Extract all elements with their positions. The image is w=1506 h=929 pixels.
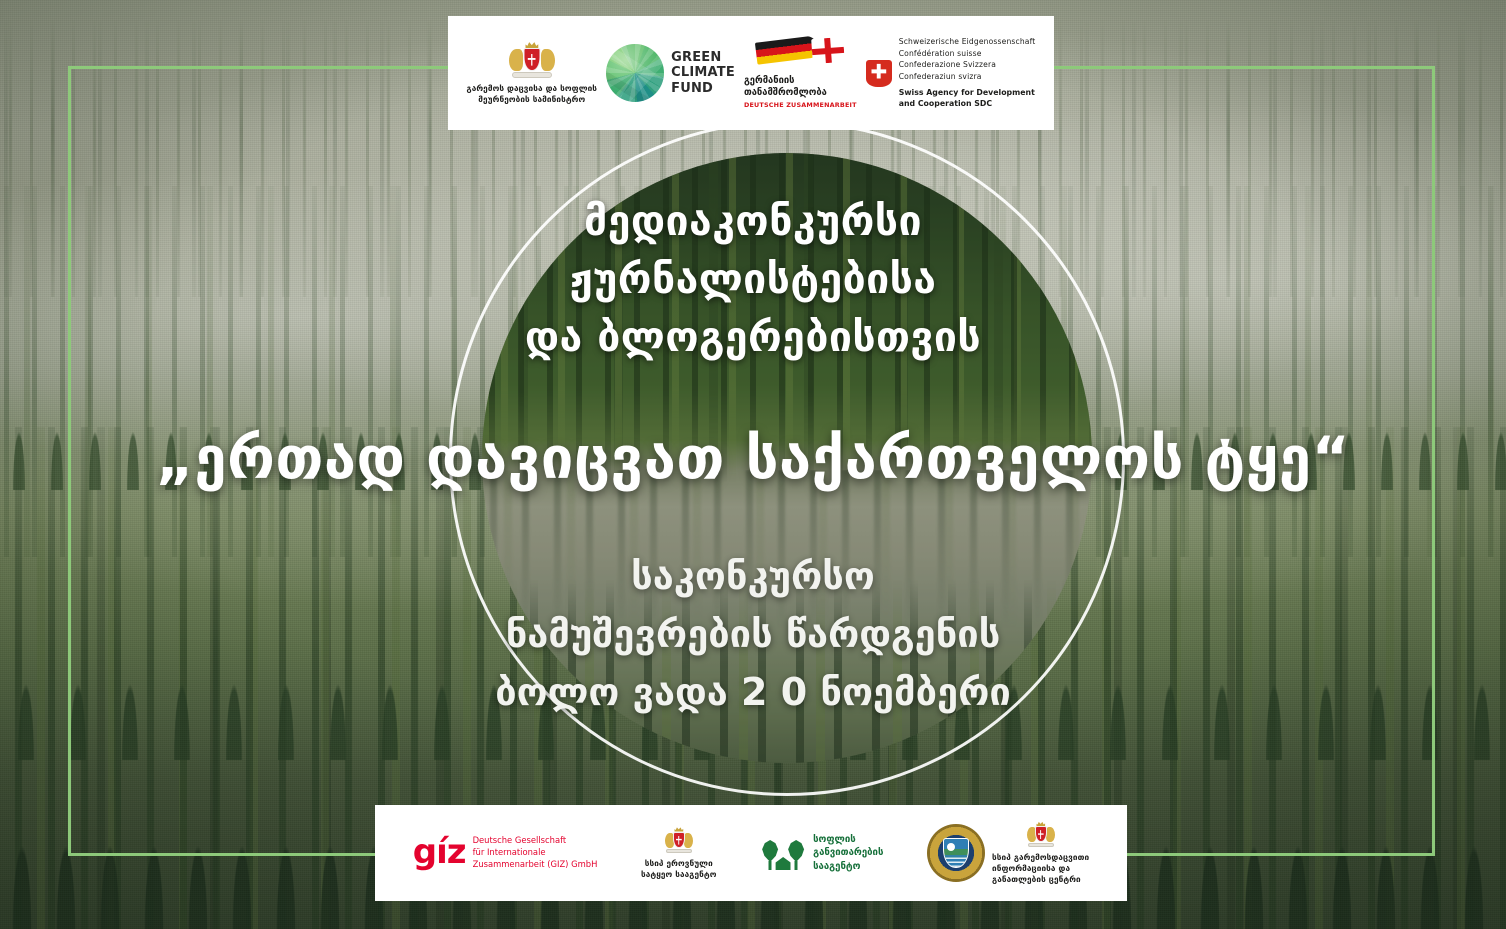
gcf-line-3: FUND: [671, 81, 735, 96]
logo-environmental-info-centre: სსიპ გარემოსდაცვითი ინფორმაციისა და განა…: [927, 821, 1089, 885]
swiss-line-3: Confederazione Svizzera: [899, 59, 1036, 70]
swiss-bold-line-2: and Cooperation SDC: [899, 99, 1036, 110]
georgia-coat-of-arms-icon: [664, 827, 694, 854]
swiss-languages: Schweizerische Eidgenossenschaft Confédé…: [899, 36, 1036, 82]
double-tree-icon: [760, 836, 806, 870]
gcf-line-2: CLIMATE: [671, 65, 735, 80]
swiss-line-2: Confédération suisse: [899, 48, 1036, 59]
rural-line-2: განვითარების: [813, 846, 883, 860]
top-sponsor-banner: გარემოს დაცვისა და სოფლის მეურნეობის სამ…: [448, 16, 1054, 130]
logo-ministry-of-environment: გარემოს დაცვისა და სოფლის მეურნეობის სამ…: [467, 41, 598, 105]
gcf-sphere-icon: [606, 44, 664, 102]
contest-kicker: მედიაკონკურსი ჟურნალისტებისა და ბლოგერებ…: [0, 192, 1506, 367]
ministry-caption-line-1: გარემოს დაცვისა და სოფლის: [467, 83, 598, 94]
gcf-line-1: GREEN: [671, 50, 735, 65]
german-caption-line-2: თანამშრომლობა: [744, 87, 857, 99]
swiss-bold-line-1: Swiss Agency for Development: [899, 88, 1036, 99]
logo-rural-development-agency: სოფლის განვითარების სააგენტო: [760, 833, 883, 874]
georgia-coat-of-arms-icon: [1026, 821, 1056, 848]
env-centre-caption: სსიპ გარემოსდაცვითი ინფორმაციისა და განა…: [992, 852, 1089, 885]
submission-deadline-text: საკონკურსო ნამუშევრების წარდგენის ბოლო ვ…: [0, 548, 1506, 721]
forestry-agency-caption: სსიპ ეროვნული სატყეო სააგენტო: [641, 858, 717, 880]
subtitle-line-2: ნამუშევრების წარდგენის: [0, 606, 1506, 664]
rural-line-1: სოფლის: [813, 833, 883, 847]
env-line-2: ინფორმაციისა და: [992, 863, 1089, 874]
forestry-line-2: სატყეო სააგენტო: [641, 869, 717, 880]
swiss-cross-icon: [866, 60, 892, 87]
swiss-agency-name: Swiss Agency for Development and Coopera…: [899, 88, 1036, 110]
logo-german-cooperation: გერმანიის თანამშრომლობა DEUTSCHE ZUSAMME…: [744, 37, 857, 110]
german-caption-subline: DEUTSCHE ZUSAMMENARBEIT: [744, 101, 857, 109]
logo-national-forestry-agency: სსიპ ეროვნული სატყეო სააგენტო: [641, 827, 717, 880]
kicker-line-1: მედიაკონკურსი: [0, 192, 1506, 250]
contest-headline: „ერთად დავიცვათ საქართველოს ტყე“: [0, 424, 1506, 492]
german-georgian-flag-icon: [756, 37, 844, 71]
swiss-line-4: Confederaziun svizra: [899, 71, 1036, 82]
subtitle-line-3: ბოლო ვადა 2 0 ნოემბერი: [0, 664, 1506, 722]
swiss-caption: Schweizerische Eidgenossenschaft Confédé…: [899, 36, 1036, 109]
subtitle-line-1: საკონკურსო: [0, 548, 1506, 606]
german-caption-line-1: გერმანიის: [744, 75, 857, 87]
bottom-sponsor-banner: gíz Deutsche Gesellschaft für Internatio…: [375, 805, 1127, 901]
ministry-caption-line-2: მეურნეობის სამინისტრო: [467, 94, 598, 105]
gcf-wordmark: GREEN CLIMATE FUND: [671, 50, 735, 95]
georgia-coat-of-arms-icon: [508, 41, 556, 79]
ministry-caption: გარემოს დაცვისა და სოფლის მეურნეობის სამ…: [467, 83, 598, 105]
env-centre-block: სსიპ გარემოსდაცვითი ინფორმაციისა და განა…: [992, 821, 1089, 885]
env-line-1: სსიპ გარემოსდაცვითი: [992, 852, 1089, 863]
giz-line-3: Zusammenarbeit (GIZ) GmbH: [473, 859, 598, 871]
forestry-line-1: სსიპ ეროვნული: [641, 858, 717, 869]
environment-seal-icon: [927, 824, 985, 882]
rural-line-3: სააგენტო: [813, 860, 883, 874]
swiss-line-1: Schweizerische Eidgenossenschaft: [899, 36, 1036, 47]
logo-green-climate-fund: GREEN CLIMATE FUND: [606, 44, 735, 102]
kicker-line-3: და ბლოგერებისთვის: [0, 308, 1506, 366]
rural-agency-caption: სოფლის განვითარების სააგენტო: [813, 833, 883, 874]
giz-line-1: Deutsche Gesellschaft: [473, 835, 598, 847]
poster-canvas: მედიაკონკურსი ჟურნალისტებისა და ბლოგერებ…: [0, 0, 1506, 929]
german-cooperation-caption: გერმანიის თანამშრომლობა DEUTSCHE ZUSAMME…: [744, 75, 857, 110]
giz-line-2: für Internationale: [473, 847, 598, 859]
logo-giz: gíz Deutsche Gesellschaft für Internatio…: [413, 835, 598, 871]
kicker-line-2: ჟურნალისტებისა: [0, 250, 1506, 308]
giz-caption: Deutsche Gesellschaft für Internationale…: [473, 835, 598, 871]
giz-wordmark-icon: gíz: [413, 837, 466, 868]
logo-swiss-sdc: Schweizerische Eidgenossenschaft Confédé…: [866, 36, 1036, 109]
env-line-3: განათლების ცენტრი: [992, 874, 1089, 885]
